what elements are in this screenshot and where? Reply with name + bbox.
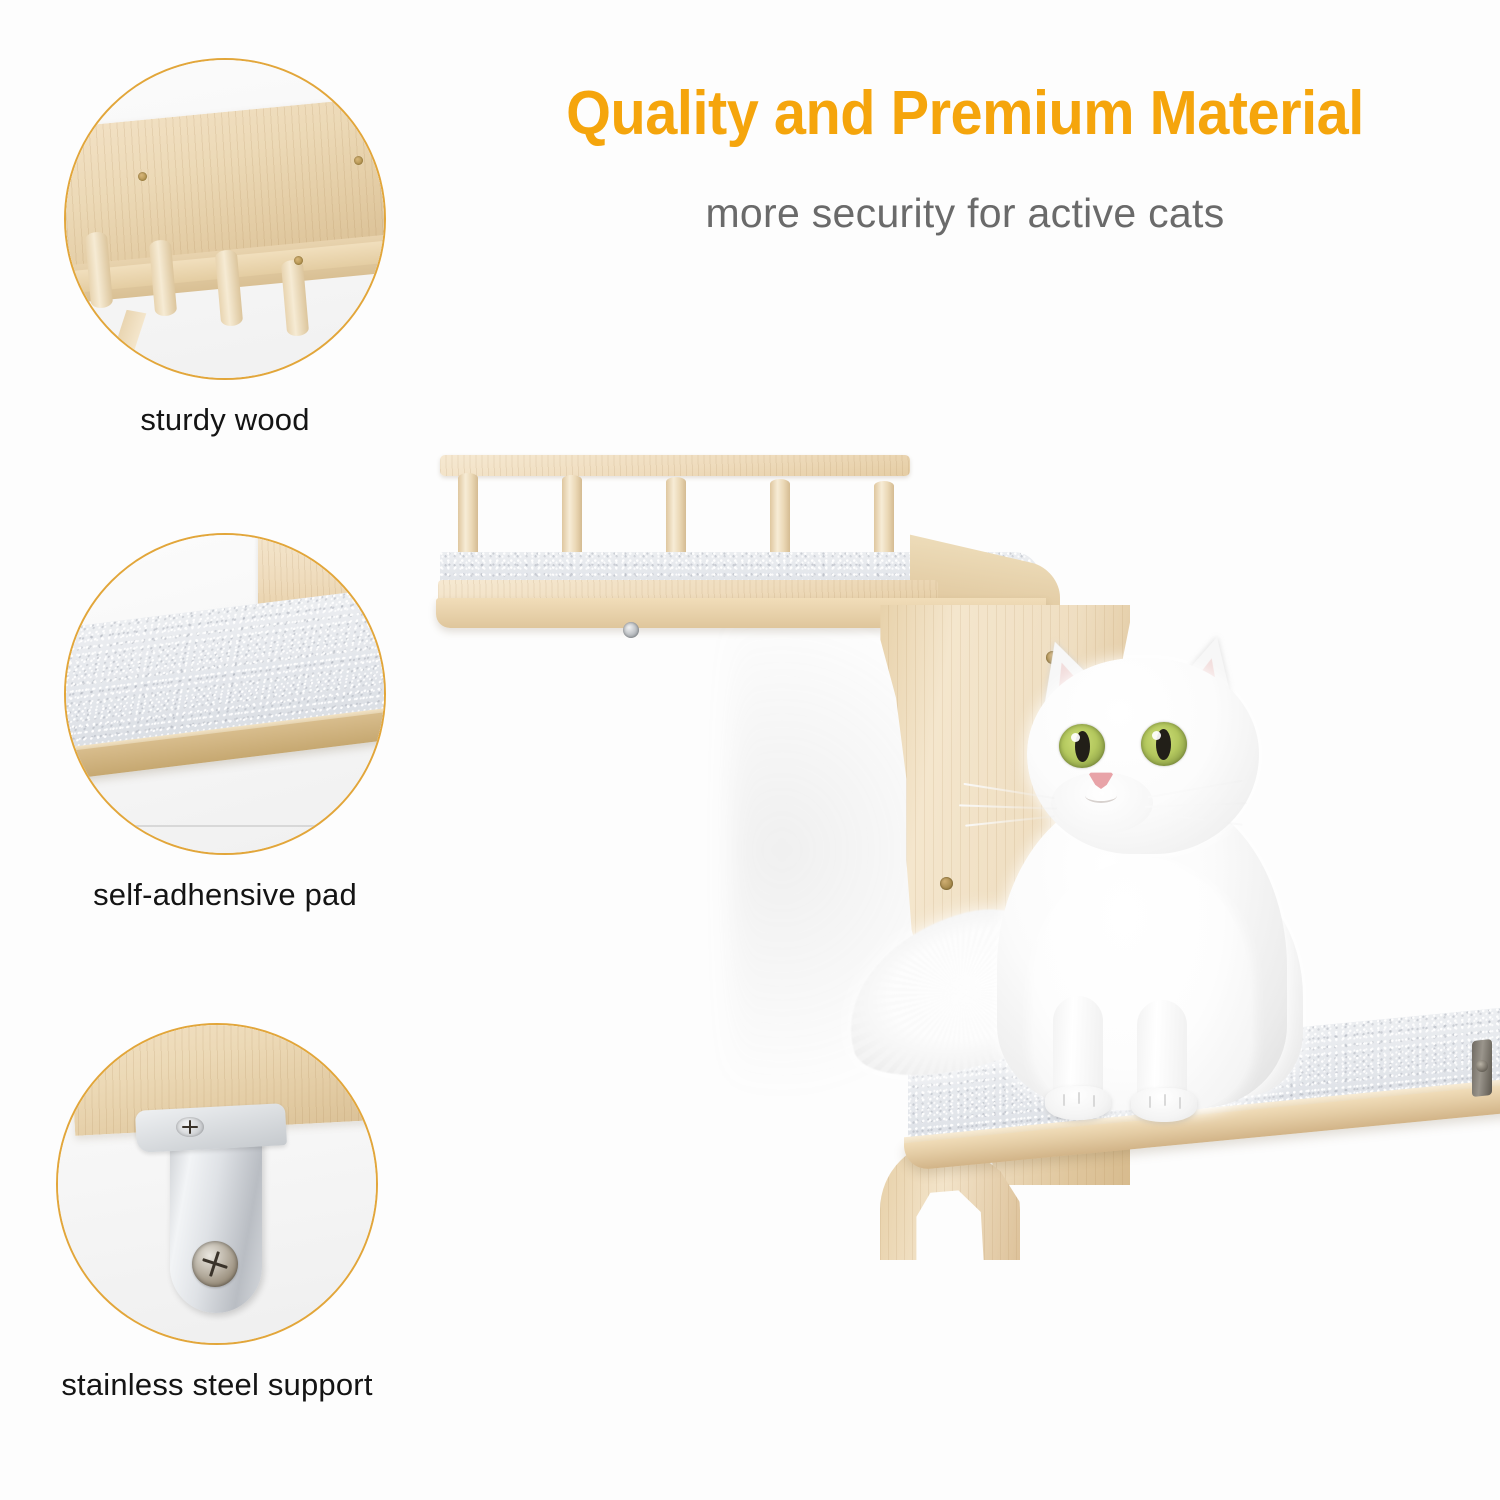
railing-top-bar [440, 455, 910, 476]
screw [354, 156, 363, 165]
page-subtitle: more security for active cats [470, 190, 1460, 237]
railing-post [666, 477, 686, 563]
cat-eye-left [1059, 724, 1105, 768]
feature-label-self-adhensive-pad: self-adhensive pad [25, 877, 425, 913]
feature-stainless-steel-support: stainless steel support [56, 1023, 432, 1403]
lower-shelf-bracket-screw [1476, 1060, 1488, 1072]
cat-paw-left [1045, 1086, 1111, 1120]
cat-eye-glint-left [1071, 733, 1080, 742]
feature-label-stainless-steel-support: stainless steel support [2, 1367, 432, 1403]
screw [138, 172, 147, 181]
feature-label-sturdy-wood: sturdy wood [64, 402, 386, 438]
cat-whisker [965, 815, 1055, 826]
feature-self-adhensive-pad: self-adhensive pad [64, 533, 425, 913]
bracket-screw-bottom [192, 1241, 238, 1287]
feature-image-sturdy-wood [64, 58, 386, 380]
page-title: Quality and Premium Material [505, 78, 1426, 149]
screw [330, 563, 339, 572]
feature-sturdy-wood: sturdy wood [64, 58, 386, 438]
railing-post [562, 475, 582, 561]
product-photo [430, 440, 1500, 1160]
cat [885, 620, 1385, 1140]
cat-eye-glint-right [1152, 731, 1161, 740]
upper-shelf-screw [623, 622, 639, 638]
steel-bracket-flange [135, 1103, 287, 1153]
wall-floor-line [66, 825, 384, 827]
cat-paw-right [1131, 1088, 1197, 1122]
feature-image-self-adhensive-pad [64, 533, 386, 855]
screw [294, 256, 303, 265]
bracket-screw-top [176, 1117, 204, 1137]
railing-post [458, 473, 478, 559]
cat-mouth [1085, 788, 1117, 803]
product-infographic: Quality and Premium Material more securi… [0, 0, 1500, 1500]
feature-image-stainless-steel-support [56, 1023, 378, 1345]
cat-eye-right [1141, 722, 1187, 766]
